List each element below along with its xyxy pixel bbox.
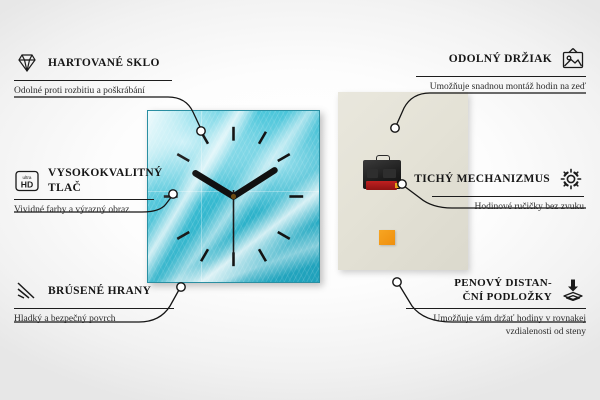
feature-title: BRÚSENÉ HRANY [48,284,194,299]
feature-divider [14,80,172,81]
ultra-hd-badge-icon: ultra HD [14,168,40,194]
feature-foam-spacers: PENOVÝ DISTAN- ČNÍ PODLOŽKY Umožňuje vám… [404,276,586,339]
feature-divider [432,196,584,197]
mechanism-slot-right [383,169,396,178]
feature-description: Umožňuje vám držať hodiny v rovnakej vzd… [404,313,586,339]
feature-description: Hladký a bezpečný povrch [14,313,194,326]
feature-description: Umožňuje snadnou montáž hodin na zeď [404,81,586,94]
picture-frame-hanger-icon [560,46,586,72]
feature-description: Hodinové ručičky bez zvuku [404,201,584,214]
feature-title-line2: ČNÍ PODLOŽKY [463,291,552,303]
svg-text:HD: HD [21,179,33,189]
feature-header: HARTOVANÉ SKLO [14,50,194,76]
feature-title: ODOLNÝ DRŽIAK [404,52,552,67]
mechanism-body [363,160,401,189]
foam-spacer-pad [379,230,395,245]
feature-durable-holder: ODOLNÝ DRŽIAK Umožňuje snadnou montáž ho… [404,46,586,94]
feature-high-quality-print: ultra HD VYSOKOKVALITNÝ TLAČ Vividné far… [14,166,194,218]
diagonal-lines-icon [14,278,40,304]
feature-title: TICHÝ MECHANIZMUS [404,172,550,187]
feature-header: ODOLNÝ DRŽIAK [404,46,586,72]
feature-divider [416,76,586,77]
feature-divider [14,199,154,200]
feature-header: TICHÝ MECHANIZMUS [404,166,584,192]
clock-center-cap [231,194,236,199]
clock-mechanism [363,155,401,189]
feature-silent-mechanism: TICHÝ MECHANIZMUS Hodinové ručičky bez z… [404,166,584,214]
feature-title: PENOVÝ DISTAN- ČNÍ PODLOŽKY [404,276,552,304]
feature-title: HARTOVANÉ SKLO [48,56,194,71]
clock-hour-hand [195,173,233,196]
clock-minute-hand [234,170,275,196]
wire-endpoint-foam [393,278,401,286]
feature-divider [14,308,174,309]
battery [366,181,397,190]
feature-description: Vividné farby a výrazný obraz [14,204,194,217]
download-stack-icon [560,277,586,303]
feature-header: PENOVÝ DISTAN- ČNÍ PODLOŽKY [404,276,586,304]
diamond-icon [14,50,40,76]
gear-icon [558,166,584,192]
feature-divider [406,308,586,309]
feature-header: ultra HD VYSOKOKVALITNÝ TLAČ [14,166,194,195]
feature-title-line1: PENOVÝ DISTAN- [454,277,552,289]
feature-header: BRÚSENÉ HRANY [14,278,194,304]
feature-ground-edges: BRÚSENÉ HRANY Hladký a bezpečný povrch [14,278,194,326]
mechanism-slot-left [367,169,378,178]
feature-title: VYSOKOKVALITNÝ TLAČ [48,166,194,195]
feature-tempered-glass: HARTOVANÉ SKLO Odolné proti rozbitiu a p… [14,50,194,98]
feature-description: Odolné proti rozbitiu a poškrábání [14,85,194,98]
infographic-canvas: HARTOVANÉ SKLO Odolné proti rozbitiu a p… [0,0,600,400]
